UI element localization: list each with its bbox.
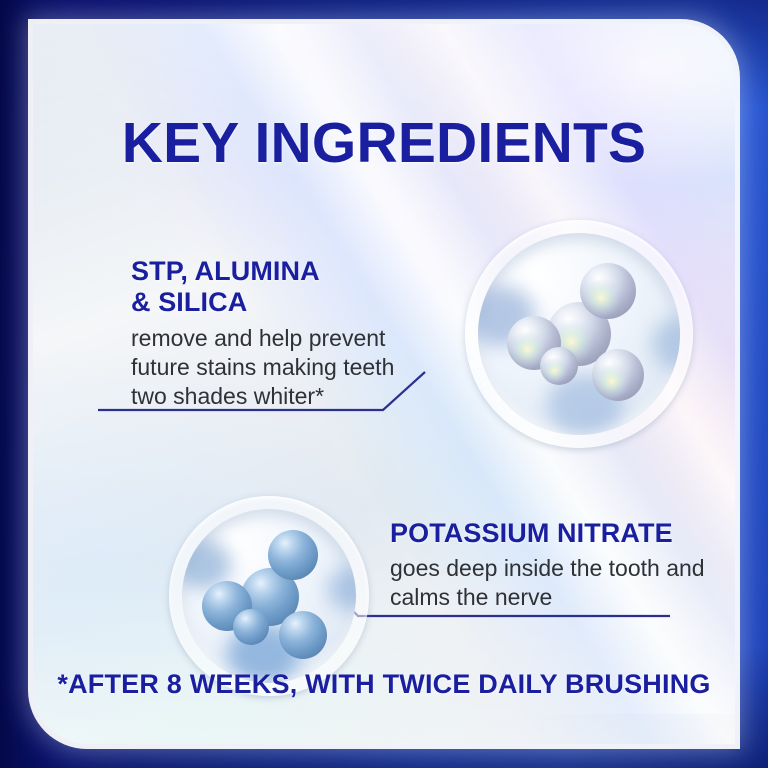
- molecule-bonds: [182, 509, 356, 683]
- ingredient-description: goes deep inside the tooth and calms the…: [390, 554, 710, 612]
- ingredient-name: POTASSIUM NITRATE: [390, 518, 710, 549]
- molecule-bonds: [478, 233, 680, 435]
- potassium-nitrate-molecule-illustration: [169, 496, 369, 696]
- ingredient-block-potassium-nitrate: POTASSIUM NITRATE goes deep inside the t…: [390, 518, 710, 612]
- stp-alumina-silica-molecule-illustration: [465, 220, 693, 448]
- ingredient-name-line-1: STP, ALUMINA: [131, 256, 320, 286]
- ingredient-description: remove and help prevent future stains ma…: [131, 324, 431, 411]
- footnote-disclaimer: *AFTER 8 WEEKS, WITH TWICE DAILY BRUSHIN…: [33, 669, 735, 700]
- page-title: KEY INGREDIENTS: [33, 110, 735, 176]
- molecule-dish: [478, 233, 680, 435]
- content-card: KEY INGREDIENTS STP, ALUMINA & SILICA re…: [33, 24, 735, 744]
- infographic-canvas: KEY INGREDIENTS STP, ALUMINA & SILICA re…: [0, 0, 768, 768]
- molecule-dish: [182, 509, 356, 683]
- ingredient-name: STP, ALUMINA & SILICA: [131, 256, 431, 319]
- ingredient-block-stp-alumina-silica: STP, ALUMINA & SILICA remove and help pr…: [131, 256, 431, 411]
- ingredient-name-line-2: & SILICA: [131, 287, 247, 317]
